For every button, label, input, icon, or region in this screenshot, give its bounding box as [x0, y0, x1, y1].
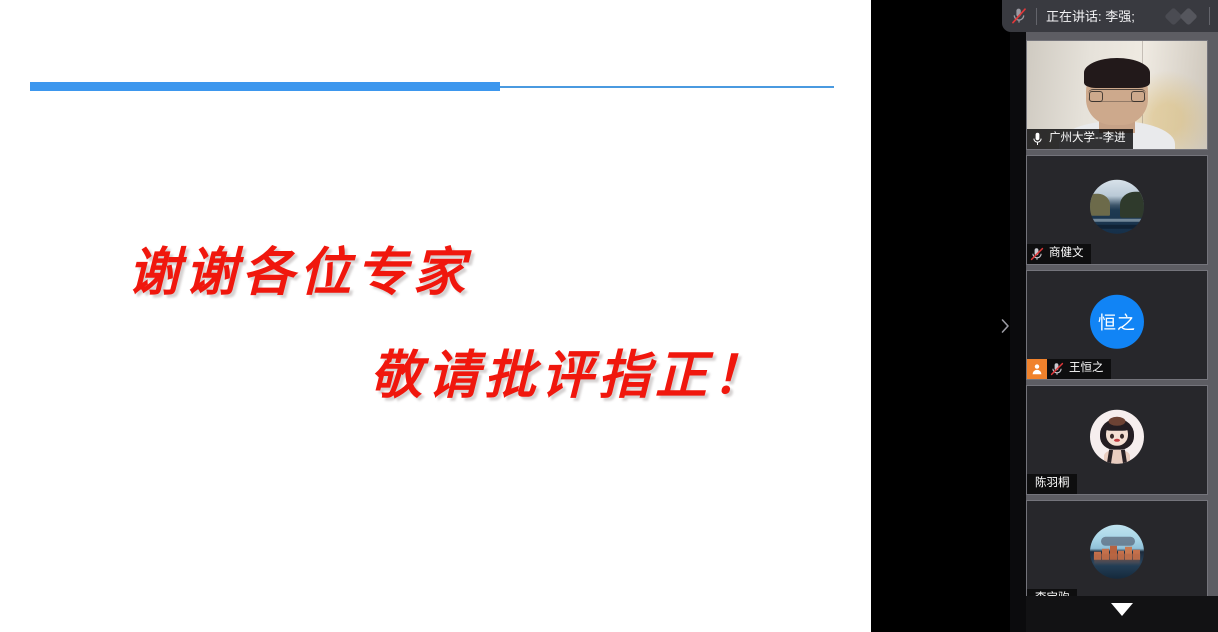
status-bar-divider [1036, 8, 1037, 25]
meeting-status-bar: 正在讲话: 李强; [1002, 0, 1218, 32]
participant-avatar [1090, 525, 1144, 579]
avatar-hill-right [1120, 192, 1144, 218]
participant-avatar [1090, 180, 1144, 234]
mic-muted-icon [1047, 362, 1067, 376]
slide-divider-rule [30, 82, 834, 92]
stage-gutter [871, 0, 1010, 632]
participant-name-text: 王恒之 [1067, 363, 1104, 375]
participant-name-text: 商健文 [1047, 248, 1084, 260]
participant-panel: 广州大学--李进 [1010, 0, 1218, 632]
participant-tile[interactable]: 商健文 [1026, 155, 1208, 265]
avatar-hill-left [1090, 194, 1110, 216]
active-speaker-label: 正在讲话: 李强; [1046, 10, 1161, 23]
mic-muted-icon[interactable] [1002, 7, 1036, 25]
avatar-eye-left [1110, 434, 1114, 439]
slide-heading-line-2: 敬请批评指正！ [370, 333, 769, 408]
participant-name-label: 广州大学--李进 [1027, 129, 1133, 149]
triangle-down-icon [1109, 602, 1135, 617]
glasses-lens-right [1131, 91, 1145, 102]
slide-heading-line-1: 谢谢各位专家 [128, 230, 470, 305]
avatar-bow [1109, 417, 1126, 426]
glasses-lens-left [1089, 91, 1103, 102]
scroll-down-button[interactable] [1026, 596, 1218, 632]
slide-rule-thick [30, 82, 500, 91]
avatar-water-band-dark [1090, 224, 1144, 228]
network-quality-icon[interactable] [1161, 5, 1209, 27]
participant-tile[interactable]: 恒之 [1026, 270, 1208, 380]
shared-screen-slide: 谢谢各位专家 敬请批评指正！ [0, 0, 871, 632]
participant-avatar: 恒之 [1090, 295, 1144, 349]
person-glasses [1088, 89, 1146, 102]
participant-name-text: 陈羽桐 [1033, 478, 1070, 490]
meeting-window: 谢谢各位专家 敬请批评指正！ [0, 0, 1218, 632]
mic-on-icon [1027, 132, 1047, 146]
status-bar-divider-right [1209, 7, 1210, 25]
panel-left-strip [1010, 0, 1026, 632]
host-badge-icon [1027, 359, 1047, 379]
participant-tile-list: 广州大学--李进 [1026, 40, 1218, 632]
participant-avatar [1090, 410, 1144, 464]
participant-tile[interactable]: 广州大学--李进 [1026, 40, 1208, 150]
avatar-water-band [1090, 219, 1144, 222]
avatar-eye-right [1120, 434, 1124, 439]
mic-muted-icon [1027, 247, 1047, 261]
participant-name-label: 陈羽桐 [1027, 474, 1077, 494]
participant-name-label: 商健文 [1027, 244, 1091, 264]
chevron-right-icon [1000, 318, 1010, 334]
participant-tile[interactable]: 陈羽桐 [1026, 385, 1208, 495]
participant-name-text: 广州大学--李进 [1047, 133, 1126, 145]
avatar-lips [1114, 439, 1120, 442]
participant-tile[interactable]: 李宝驹 [1026, 500, 1208, 610]
person-hair [1084, 58, 1151, 88]
participant-name-label: 王恒之 [1027, 359, 1111, 379]
avatar-reflection [1094, 554, 1139, 566]
